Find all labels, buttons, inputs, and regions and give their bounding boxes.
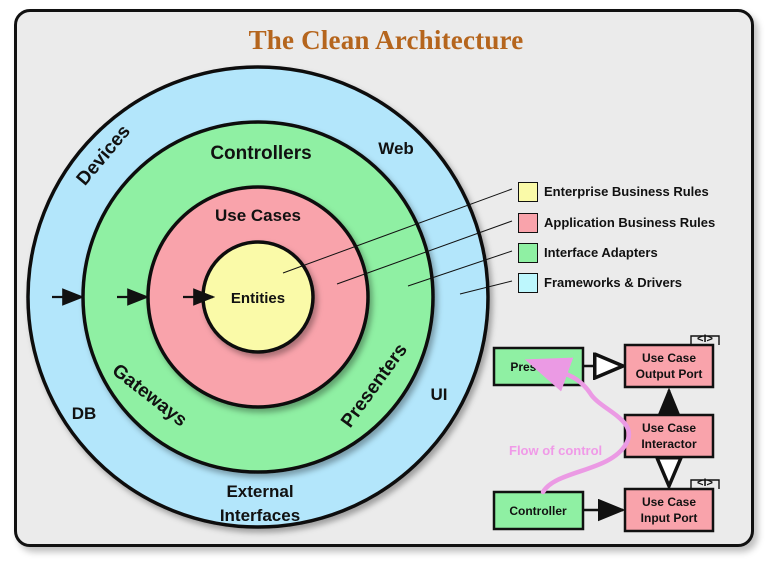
interface-marker-input-port: <I> [697, 477, 713, 489]
interface-marker-output-port: <I> [697, 333, 713, 345]
box-use-case-interactor-label-line2: Interactor [641, 437, 697, 451]
clean-architecture-diagram: The Clean Architecture [0, 0, 772, 567]
box-use-case-input-port-label-line2: Input Port [641, 511, 698, 525]
box-use-case-output-port-label-line2: Output Port [636, 367, 703, 381]
flow-of-control-diagram: Presenter Use Case Output Port <I> Use C… [0, 0, 772, 567]
flow-of-control-label: Flow of control [509, 443, 602, 458]
box-use-case-input-port-label-line1: Use Case [642, 495, 696, 509]
box-use-case-interactor-label-line1: Use Case [642, 421, 696, 435]
box-use-case-output-port-label-line1: Use Case [642, 351, 696, 365]
box-controller-label: Controller [509, 504, 567, 518]
